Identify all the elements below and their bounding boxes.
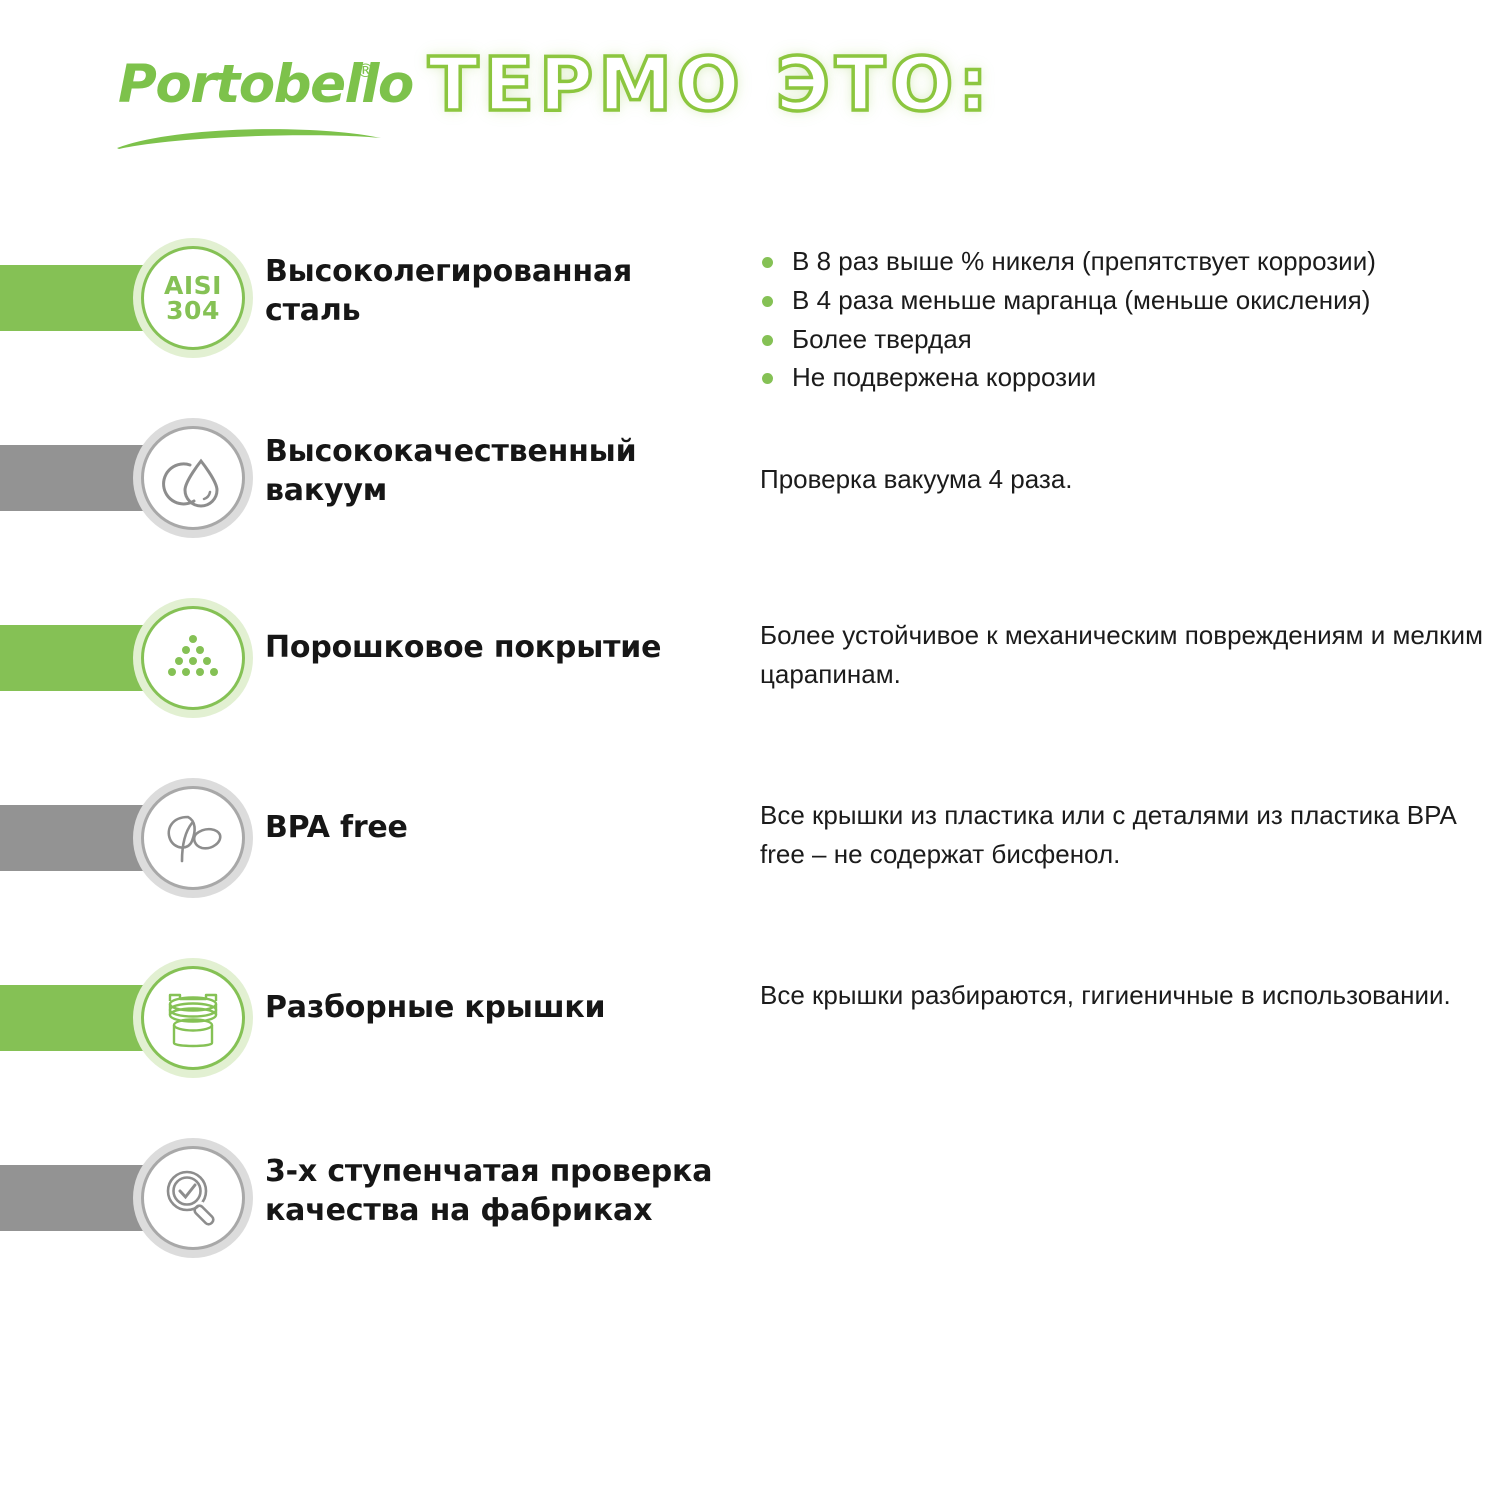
leaves-icon [141,786,245,890]
logo-swoosh-icon [115,124,383,150]
infographic-page: Portobello ® ТЕРМО ЭТО: AISI 304 Высокол… [0,0,1500,1500]
badge-wrapper [133,778,253,898]
feature-title: Высококачественный вакуум [265,432,735,510]
list-item: Более твердая [760,322,1500,357]
feature-row-steel: AISI 304 Высоколегированная сталь В 8 ра… [0,228,1500,368]
header: Portobello ® ТЕРМО ЭТО: [0,0,1500,210]
feature-description: Проверка вакуума 4 раза. [760,460,1490,499]
registered-trademark-icon: ® [356,60,375,82]
feature-title: 3-х ступенчатая проверка качества на фаб… [265,1152,735,1230]
feature-title: Высоколегированная сталь [265,252,735,330]
water-drop-icon [141,426,245,530]
badge-wrapper [133,958,253,1078]
badge-line-2: 304 [164,298,222,324]
feature-row-lids: Разборные крышки Все крышки разбираются,… [0,948,1500,1088]
feature-title: Порошковое покрытие [265,628,735,667]
feature-title: Разборные крышки [265,988,735,1027]
badge-wrapper [133,418,253,538]
portobello-logo: Portobello ® [118,58,388,168]
aisi-304-badge-icon: AISI 304 [141,246,245,350]
list-item: В 8 раз выше % никеля (препятствует корр… [760,244,1500,279]
feature-description: Более устойчивое к механическим поврежде… [760,616,1490,694]
list-item: Не подвержена коррозии [760,360,1500,395]
badge-wrapper [133,1138,253,1258]
badge-line-1: AISI [164,273,222,299]
feature-description: Все крышки из пластика или с деталями из… [760,796,1490,874]
feature-row-vacuum: Высококачественный вакуум Проверка вакуу… [0,408,1500,548]
page-title: ТЕРМО ЭТО: [428,48,993,122]
feature-description: Все крышки разбираются, гигиеничные в ис… [760,976,1490,1015]
magnifier-check-icon [141,1146,245,1250]
feature-row-bpa: BPA free Все крышки из пластика или с де… [0,768,1500,908]
list-item: В 4 раза меньше марганца (меньше окислен… [760,283,1500,318]
powder-dots-icon [141,606,245,710]
badge-wrapper: AISI 304 [133,238,253,358]
logo-wordmark: Portobello [118,58,388,111]
feature-title: BPA free [265,808,735,847]
feature-row-quality: 3-х ступенчатая проверка качества на фаб… [0,1128,1500,1268]
lid-container-icon [141,966,245,1070]
badge-wrapper [133,598,253,718]
feature-bullet-list: В 8 раз выше % никеля (препятствует корр… [760,244,1500,399]
feature-row-powder: Порошковое покрытие Более устойчивое к м… [0,588,1500,728]
